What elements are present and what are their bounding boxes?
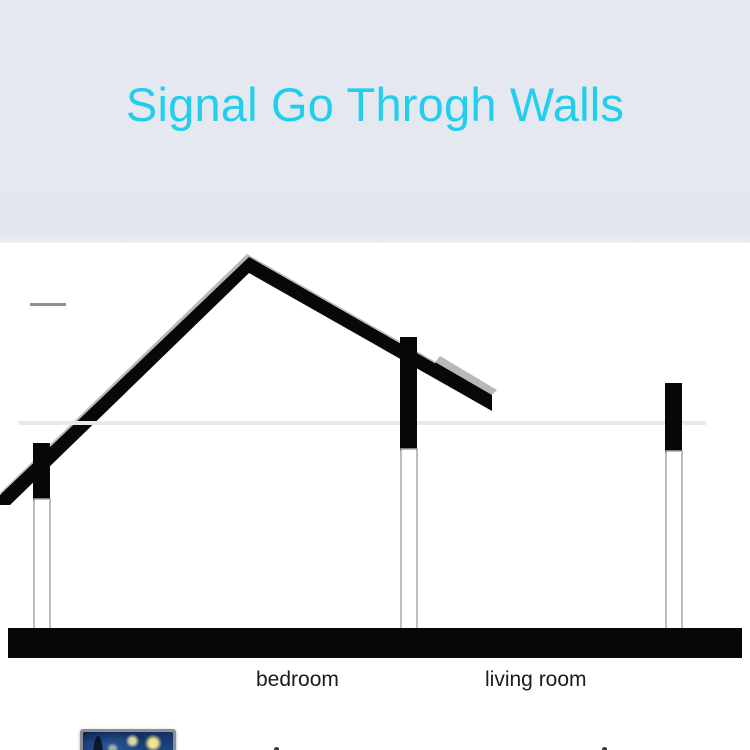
receiver-device [196, 745, 314, 750]
wall-middle-lower [401, 449, 417, 630]
wall-left-upper [33, 443, 50, 501]
roof-right-slope [249, 257, 492, 411]
header-band: Signal Go Throgh Walls [0, 0, 750, 243]
page-title: Signal Go Throgh Walls [0, 74, 750, 136]
house-structure [0, 243, 750, 750]
product-infographic: Signal Go Throgh Walls [0, 0, 750, 750]
transmitter-device [524, 745, 642, 750]
television-icon [80, 729, 176, 750]
tv-screen-cypress [93, 736, 103, 750]
wall-right-upper [665, 383, 682, 453]
tv-stand [30, 303, 66, 306]
floor-slab [8, 628, 742, 658]
house-cross-section-diagram: bedroom living room RX [0, 243, 750, 750]
ceiling-line [18, 421, 706, 425]
tv-screen [83, 732, 173, 750]
wall-right-lower [666, 451, 682, 630]
room-label-bedroom: bedroom [256, 668, 339, 692]
wall-middle-upper [400, 337, 417, 451]
room-label-living-room: living room [485, 668, 587, 692]
wall-left-lower [34, 499, 50, 630]
